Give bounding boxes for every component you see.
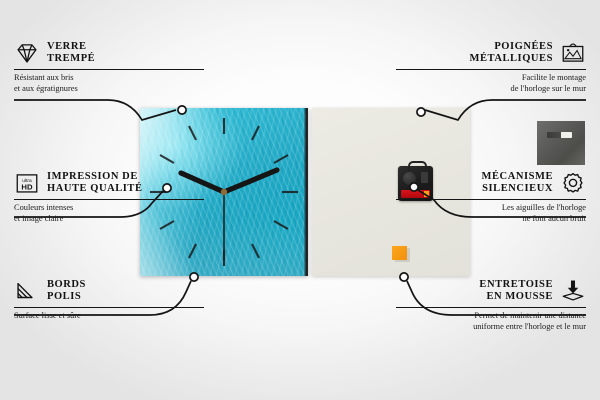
feature-title-line1: MÉCANISME bbox=[482, 171, 553, 184]
feature-divider bbox=[396, 307, 586, 308]
feature-divider bbox=[14, 307, 204, 308]
feature-bords-polis: BORDS POLIS Surface lisse et sûre bbox=[14, 278, 204, 322]
clock-minute-hand bbox=[224, 170, 277, 192]
feature-desc-line2: ne font aucun bruit bbox=[396, 214, 586, 224]
feature-poignees-metalliques: POIGNÉES MÉTALLIQUES Facilite le montage… bbox=[396, 40, 586, 94]
feature-desc-line2: et image claire bbox=[14, 214, 204, 224]
feature-title-line1: POIGNÉES bbox=[470, 41, 553, 54]
feature-desc-line1: Couleurs intenses bbox=[14, 203, 204, 213]
feature-title-line1: VERRE bbox=[47, 41, 95, 54]
feature-title-line2: SILENCIEUX bbox=[482, 183, 553, 196]
gear-icon bbox=[560, 170, 586, 196]
feature-desc-line1: Les aiguilles de l'horloge bbox=[396, 203, 586, 213]
diamond-icon bbox=[14, 40, 40, 66]
feature-desc-line1: Surface lisse et sûre bbox=[14, 311, 204, 321]
foam-spacer-arrow-icon bbox=[560, 278, 586, 304]
feature-divider bbox=[396, 69, 586, 70]
feature-title-line2: MÉTALLIQUES bbox=[470, 53, 553, 66]
polished-edges-icon bbox=[14, 278, 40, 304]
feature-title-line2: POLIS bbox=[47, 291, 86, 304]
feature-desc-line1: Résistant aux bris bbox=[14, 73, 204, 83]
feature-desc-line2: et aux égratignures bbox=[14, 84, 204, 94]
feature-divider bbox=[14, 199, 204, 200]
feature-verre-trempe: VERRE TREMPÉ Résistant aux bris et aux é… bbox=[14, 40, 204, 94]
ultra-hd-icon-large-text: HD bbox=[21, 183, 33, 192]
feature-desc-line2: de l'horloge sur le mur bbox=[396, 84, 586, 94]
foam-spacer bbox=[392, 246, 407, 260]
feature-title-line1: BORDS bbox=[47, 279, 86, 292]
feature-title-line1: IMPRESSION DE bbox=[47, 171, 143, 184]
feature-desc-line1: Permet de maintenir une distance bbox=[396, 311, 586, 321]
metal-hanger-plate bbox=[537, 121, 585, 165]
clock-center-cap bbox=[221, 189, 227, 195]
feature-title-line1: ENTRETOISE bbox=[479, 279, 553, 292]
feature-title-line2: HAUTE QUALITÉ bbox=[47, 183, 143, 196]
feature-mecanisme-silencieux: MÉCANISME SILENCIEUX Les aiguilles de l'… bbox=[396, 170, 586, 224]
feature-impression-haute-qualite: ultra HD IMPRESSION DE HAUTE QUALITÉ Cou… bbox=[14, 170, 204, 224]
feature-title-line2: EN MOUSSE bbox=[479, 291, 553, 304]
feature-desc-line1: Facilite le montage bbox=[396, 73, 586, 83]
product-infographic: VERRE TREMPÉ Résistant aux bris et aux é… bbox=[0, 0, 600, 400]
feature-title-line2: TREMPÉ bbox=[47, 53, 95, 66]
feature-desc-line2: uniforme entre l'horloge et le mur bbox=[396, 322, 586, 332]
hanger-slot bbox=[547, 132, 572, 138]
ultra-hd-icon: ultra HD bbox=[14, 170, 40, 196]
feature-entretoise-en-mousse: ENTRETOISE EN MOUSSE Permet de maintenir… bbox=[396, 278, 586, 332]
picture-hanger-icon bbox=[560, 40, 586, 66]
feature-divider bbox=[14, 69, 204, 70]
feature-divider bbox=[396, 199, 586, 200]
